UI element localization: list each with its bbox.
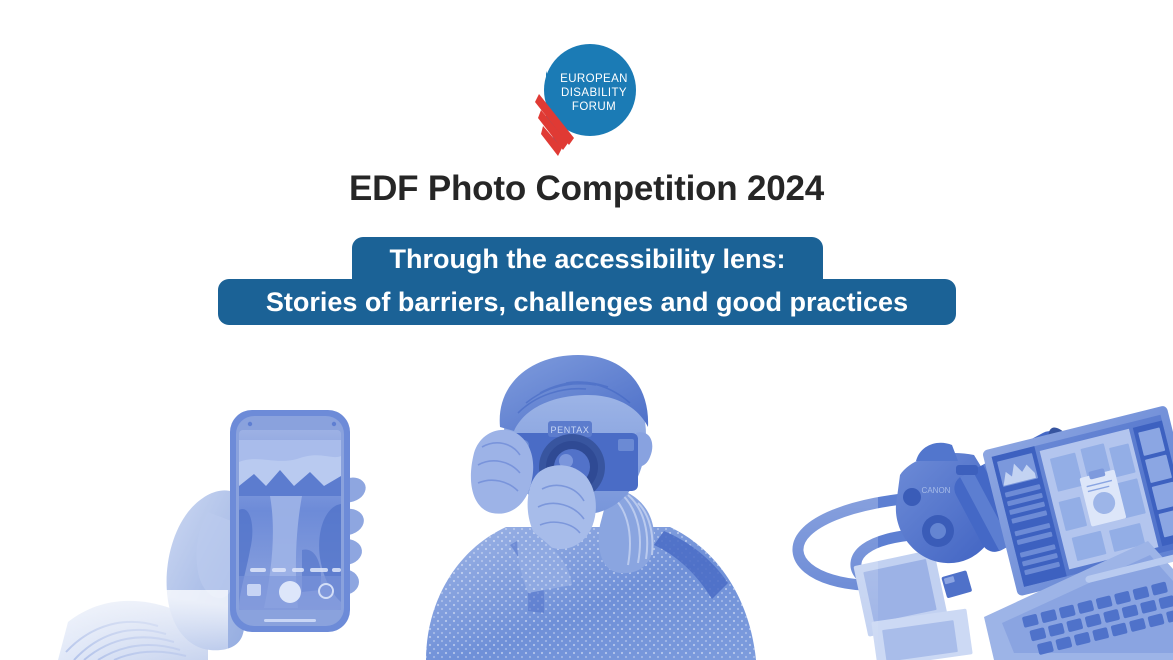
sd-card xyxy=(941,570,972,598)
photo-strip: PENTAX xyxy=(0,355,1173,660)
photo-hand-holding-smartphone xyxy=(58,400,418,660)
knit-sweater xyxy=(426,527,756,660)
camera-mode-labels xyxy=(250,568,341,572)
banner-line-2: Stories of barriers, challenges and good… xyxy=(218,279,956,325)
dslr-brand-label: CANON xyxy=(922,486,951,495)
poster-canvas: EUROPEAN DISABILITY FORUM EDF Photo Comp… xyxy=(0,0,1173,660)
photo-camera-and-laptop: CANON xyxy=(788,405,1173,660)
logo-text-line-disability: DISABILITY xyxy=(561,87,627,99)
gallery-thumbnail xyxy=(247,584,261,596)
camera-brand-label: PENTAX xyxy=(551,425,590,435)
smartphone xyxy=(230,410,350,632)
logo-container: EUROPEAN DISABILITY FORUM xyxy=(0,38,1173,156)
subtitle-banner: Through the accessibility lens: Stories … xyxy=(0,237,1173,325)
european-disability-forum-logo: EUROPEAN DISABILITY FORUM xyxy=(528,38,646,156)
photo-person-with-film-camera: PENTAX xyxy=(420,355,765,660)
banner-line-1: Through the accessibility lens: xyxy=(352,237,823,281)
logo-text-line-forum: FORUM xyxy=(571,101,615,113)
shutter-button xyxy=(279,581,301,603)
logo-text-line-european: EUROPEAN xyxy=(560,73,628,85)
page-title: EDF Photo Competition 2024 xyxy=(0,167,1173,211)
laptop xyxy=(982,405,1173,660)
